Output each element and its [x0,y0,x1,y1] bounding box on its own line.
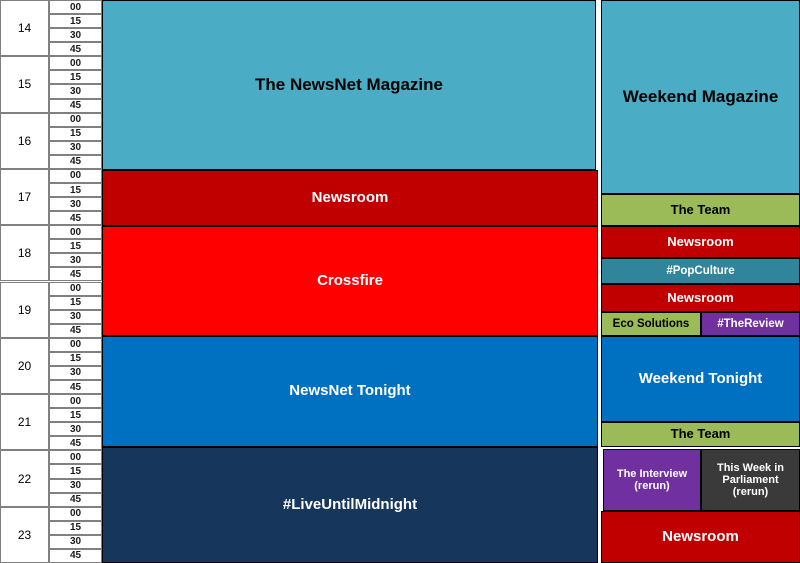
quarter-label-17-15: 15 [49,183,102,197]
program-title: #LiveUntilMidnight [105,497,595,514]
quarter-label-21-00: 00 [49,394,102,408]
program-block-this-week-in-parliament-rerun[interactable]: This Week in Parliament (rerun) [701,449,800,511]
program-block-newsroom-18[interactable]: Newsroom [601,226,800,258]
quarter-label-20-30: 30 [49,366,102,380]
quarter-label-14-00: 00 [49,0,102,14]
program-title: The Team [604,203,797,218]
quarter-label-14-30: 30 [49,28,102,42]
quarter-label-22-30: 30 [49,479,102,493]
hour-label-20: 20 [0,338,49,394]
program-title: The NewsNet Magazine [105,75,593,94]
program-block-newsroom-23[interactable]: Newsroom [601,511,800,563]
quarter-label-14-15: 15 [49,14,102,28]
quarter-label-21-30: 30 [49,422,102,436]
quarter-label-21-45: 45 [49,436,102,450]
program-block-crossfire[interactable]: Crossfire [102,226,598,336]
quarter-label-21-15: 15 [49,408,102,422]
program-title: Newsroom [604,235,797,250]
program-block-weekend-tonight[interactable]: Weekend Tonight [601,336,800,422]
hour-label-19: 19 [0,282,49,338]
quarter-label-16-45: 45 [49,155,102,169]
program-block-newsnet-tonight[interactable]: NewsNet Tonight [102,336,598,447]
program-block-liveuntilmidnight[interactable]: #LiveUntilMidnight [102,447,598,563]
quarter-label-23-30: 30 [49,535,102,549]
quarter-label-15-45: 45 [49,99,102,113]
quarter-label-18-15: 15 [49,239,102,253]
program-title: The Team [604,427,797,442]
quarter-label-20-00: 00 [49,338,102,352]
quarter-label-22-45: 45 [49,493,102,507]
program-title: Newsroom [105,190,595,207]
program-title: Newsroom [604,291,797,306]
hour-label-14: 14 [0,0,49,56]
program-title: NewsNet Tonight [105,383,595,400]
hour-label-23: 23 [0,507,49,563]
quarter-label-16-15: 15 [49,127,102,141]
quarter-label-15-15: 15 [49,70,102,84]
quarter-label-17-45: 45 [49,211,102,225]
quarter-label-22-00: 00 [49,450,102,464]
program-block-the-team-17[interactable]: The Team [601,194,800,226]
quarter-label-20-45: 45 [49,380,102,394]
program-block-thereview[interactable]: #TheReview [701,312,800,336]
quarter-label-17-30: 30 [49,197,102,211]
quarter-label-19-30: 30 [49,310,102,324]
quarter-label-20-15: 15 [49,352,102,366]
program-title: Newsroom [604,529,797,546]
program-block-the-newsnet-magazine[interactable]: The NewsNet Magazine [102,0,596,170]
hour-label-15: 15 [0,56,49,112]
program-block-newsroom-19[interactable]: Newsroom [601,284,800,312]
quarter-label-17-00: 00 [49,169,102,183]
quarter-label-18-00: 00 [49,225,102,239]
program-block-the-interview-rerun[interactable]: The Interview (rerun) [603,449,701,511]
quarter-label-19-15: 15 [49,296,102,310]
quarter-label-15-00: 00 [49,56,102,70]
quarter-label-19-00: 00 [49,282,102,296]
quarter-label-14-45: 45 [49,42,102,56]
quarter-label-18-30: 30 [49,253,102,267]
program-title: The Interview (rerun) [606,468,698,493]
program-title: #TheReview [704,318,797,331]
program-block-newsroom-17[interactable]: Newsroom [102,170,598,226]
quarter-label-23-15: 15 [49,521,102,535]
program-title: Eco Solutions [604,318,698,331]
program-title: #PopCulture [604,265,797,278]
quarter-label-19-45: 45 [49,324,102,338]
quarter-label-18-45: 45 [49,267,102,281]
program-block-weekend-magazine[interactable]: Weekend Magazine [601,0,800,194]
program-title: Crossfire [105,273,595,290]
quarter-label-16-00: 00 [49,113,102,127]
hour-label-18: 18 [0,225,49,281]
hour-label-17: 17 [0,169,49,225]
program-block-the-team-21[interactable]: The Team [601,422,800,447]
program-block-popculture[interactable]: #PopCulture [601,258,800,284]
hour-label-16: 16 [0,113,49,169]
quarter-label-15-30: 30 [49,84,102,98]
tv-schedule-grid: 1400153045150015304516001530451700153045… [0,0,800,563]
hour-label-22: 22 [0,450,49,506]
quarter-label-22-15: 15 [49,464,102,478]
quarter-label-23-45: 45 [49,549,102,563]
quarter-label-16-30: 30 [49,141,102,155]
program-title: Weekend Magazine [604,87,797,106]
hour-label-21: 21 [0,394,49,450]
program-title: This Week in Parliament (rerun) [704,462,797,499]
program-block-eco-solutions[interactable]: Eco Solutions [601,312,701,336]
quarter-label-23-00: 00 [49,507,102,521]
program-title: Weekend Tonight [604,371,797,388]
